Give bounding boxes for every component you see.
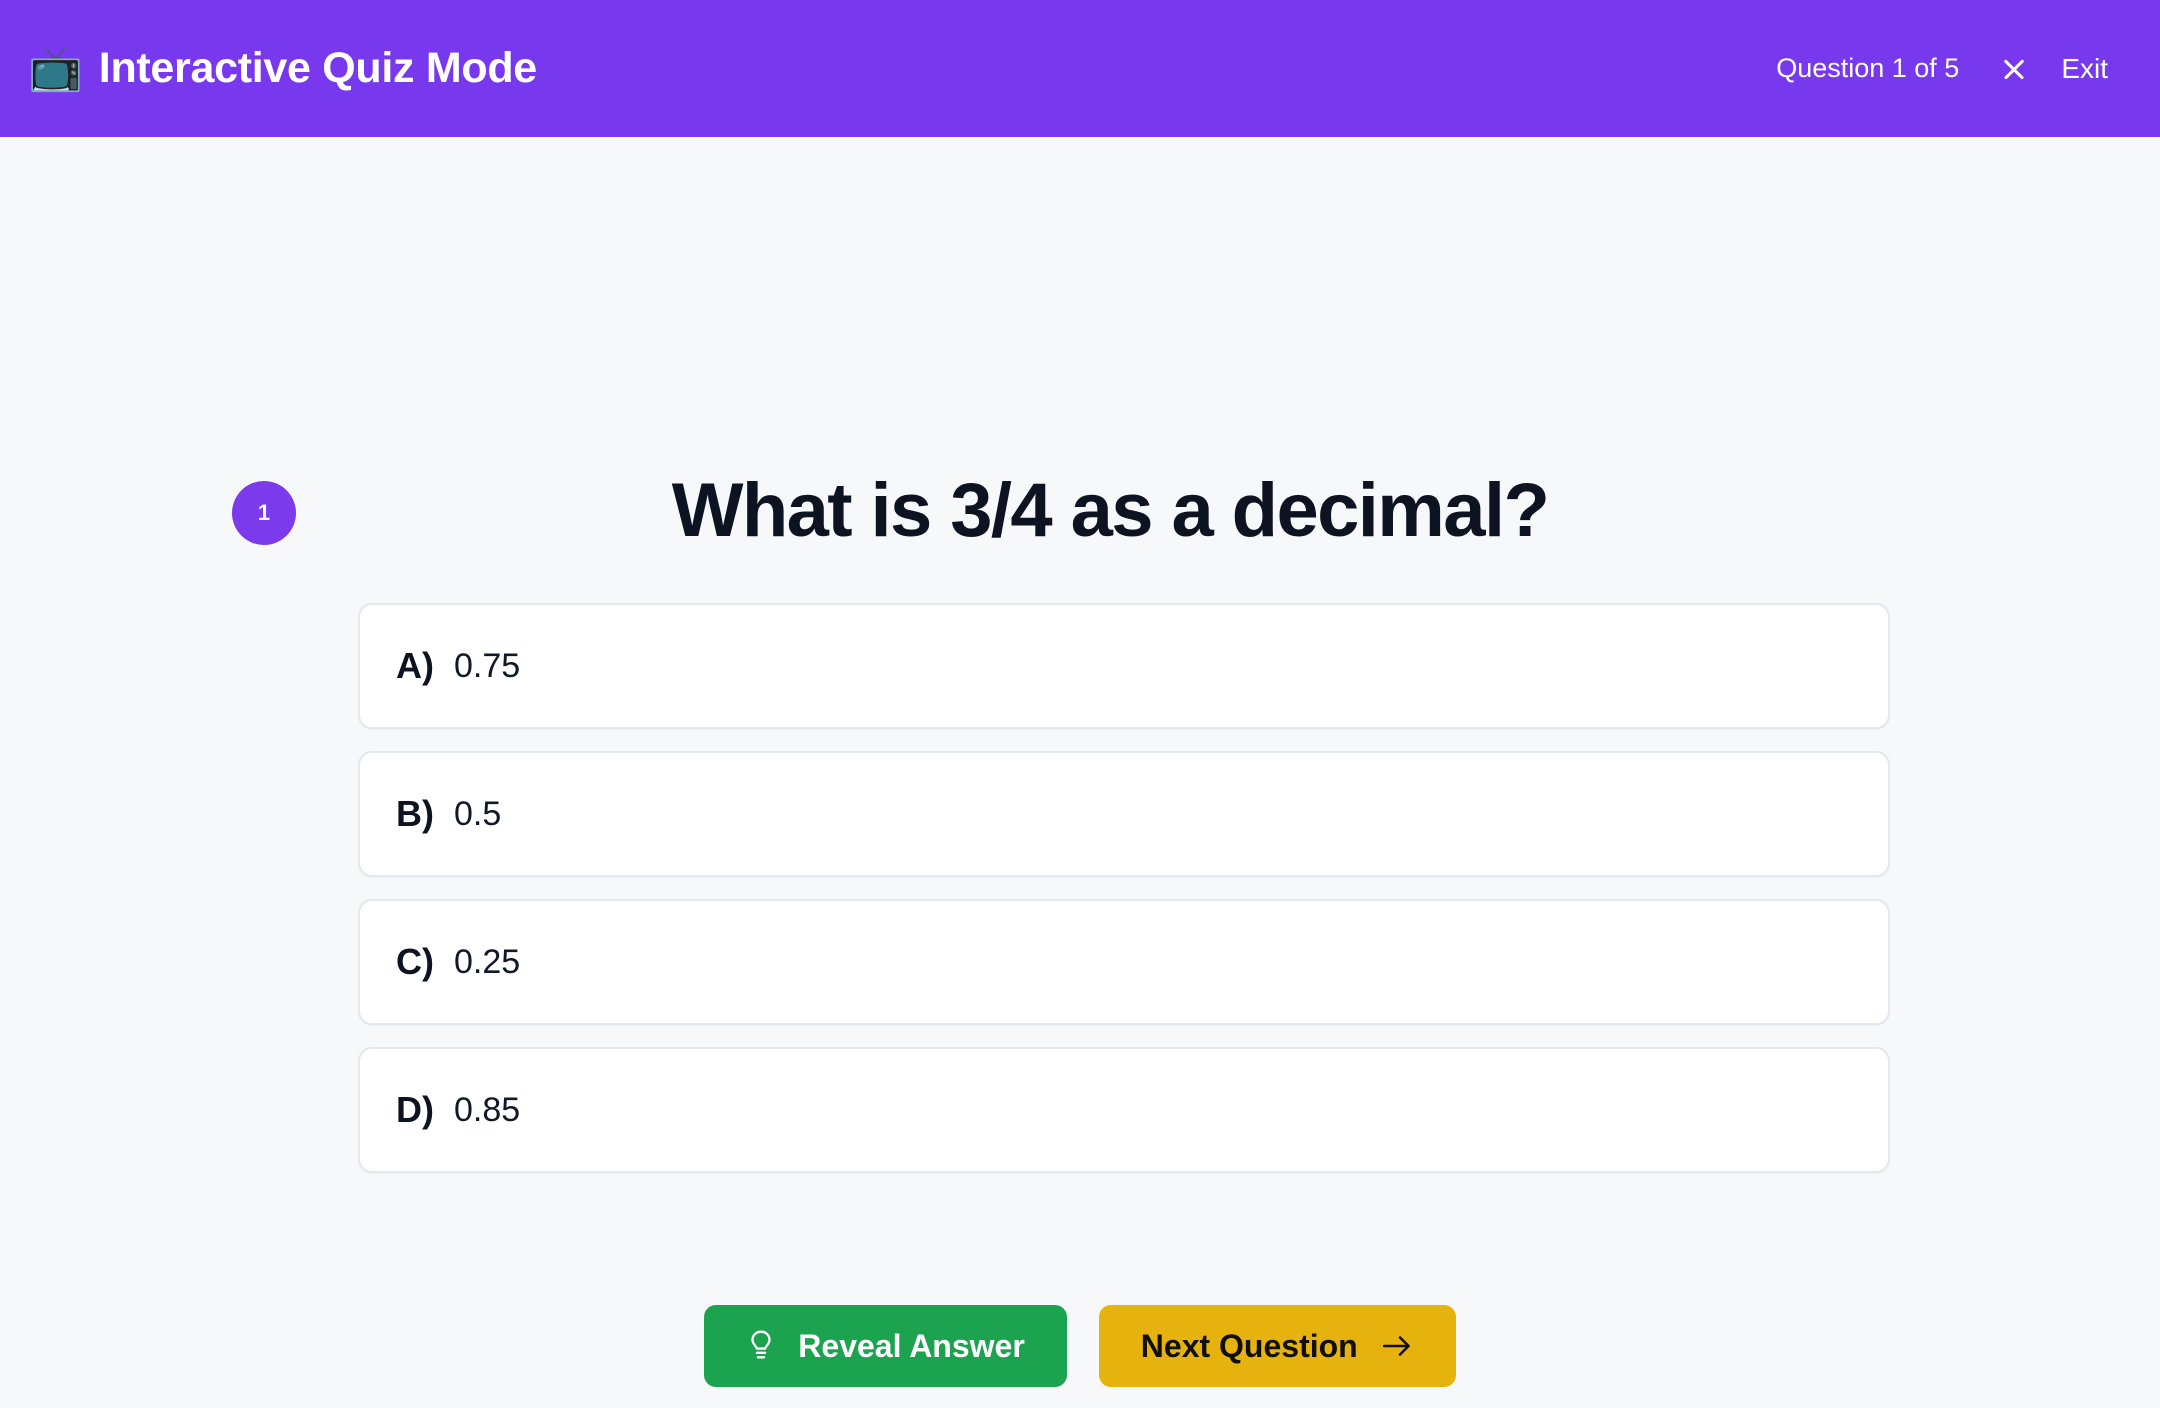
question-counter: Question 1 of 5 xyxy=(1776,53,1959,84)
action-bar: Reveal Answer Next Question xyxy=(0,1305,2160,1387)
reveal-answer-button[interactable]: Reveal Answer xyxy=(704,1305,1066,1387)
brand: 📺 Interactive Quiz Mode xyxy=(28,44,537,93)
header-right: Question 1 of 5 Exit xyxy=(1776,53,2108,85)
exit-button[interactable]: Exit xyxy=(1999,53,2108,85)
option-d[interactable]: D) 0.85 xyxy=(358,1047,1890,1173)
tv-icon: 📺 xyxy=(28,47,83,91)
question-text: What is 3/4 as a decimal? xyxy=(330,467,1890,554)
next-question-label: Next Question xyxy=(1141,1328,1358,1365)
option-b[interactable]: B) 0.5 xyxy=(358,751,1890,877)
option-value: 0.25 xyxy=(454,943,520,982)
option-a[interactable]: A) 0.75 xyxy=(358,603,1890,729)
option-letter: B) xyxy=(396,793,434,835)
option-letter: A) xyxy=(396,645,434,687)
option-value: 0.85 xyxy=(454,1091,520,1130)
reveal-answer-label: Reveal Answer xyxy=(798,1328,1024,1365)
option-value: 0.75 xyxy=(454,647,520,686)
exit-label[interactable]: Exit xyxy=(2061,53,2108,85)
app-title: Interactive Quiz Mode xyxy=(99,44,537,93)
option-letter: D) xyxy=(396,1089,434,1131)
arrow-right-icon xyxy=(1380,1331,1414,1361)
options-list: A) 0.75 B) 0.5 C) 0.25 D) 0.85 xyxy=(358,603,1890,1173)
lightbulb-icon xyxy=(746,1329,776,1363)
question-number-badge: 1 xyxy=(232,481,296,545)
option-letter: C) xyxy=(396,941,434,983)
option-c[interactable]: C) 0.25 xyxy=(358,899,1890,1025)
option-value: 0.5 xyxy=(454,795,501,834)
quiz-body: 1 What is 3/4 as a decimal? A) 0.75 B) 0… xyxy=(0,137,2160,1408)
next-question-button[interactable]: Next Question xyxy=(1099,1305,1456,1387)
close-icon[interactable] xyxy=(1999,54,2029,84)
app-header: 📺 Interactive Quiz Mode Question 1 of 5 … xyxy=(0,0,2160,137)
